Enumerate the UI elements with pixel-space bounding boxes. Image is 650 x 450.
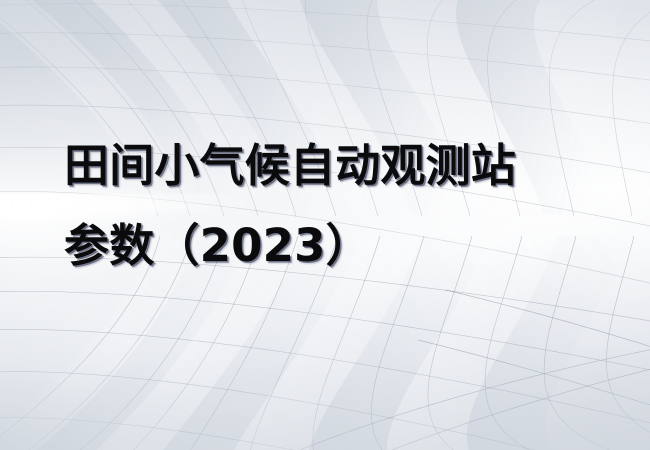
- page-title: 田间小气候自动观测站 参数（2023）: [64, 126, 604, 286]
- title-line-1: 田间小气候自动观测站: [64, 126, 604, 206]
- title-slide: 田间小气候自动观测站 参数（2023）: [0, 0, 650, 450]
- title-line-2: 参数（2023）: [64, 206, 604, 286]
